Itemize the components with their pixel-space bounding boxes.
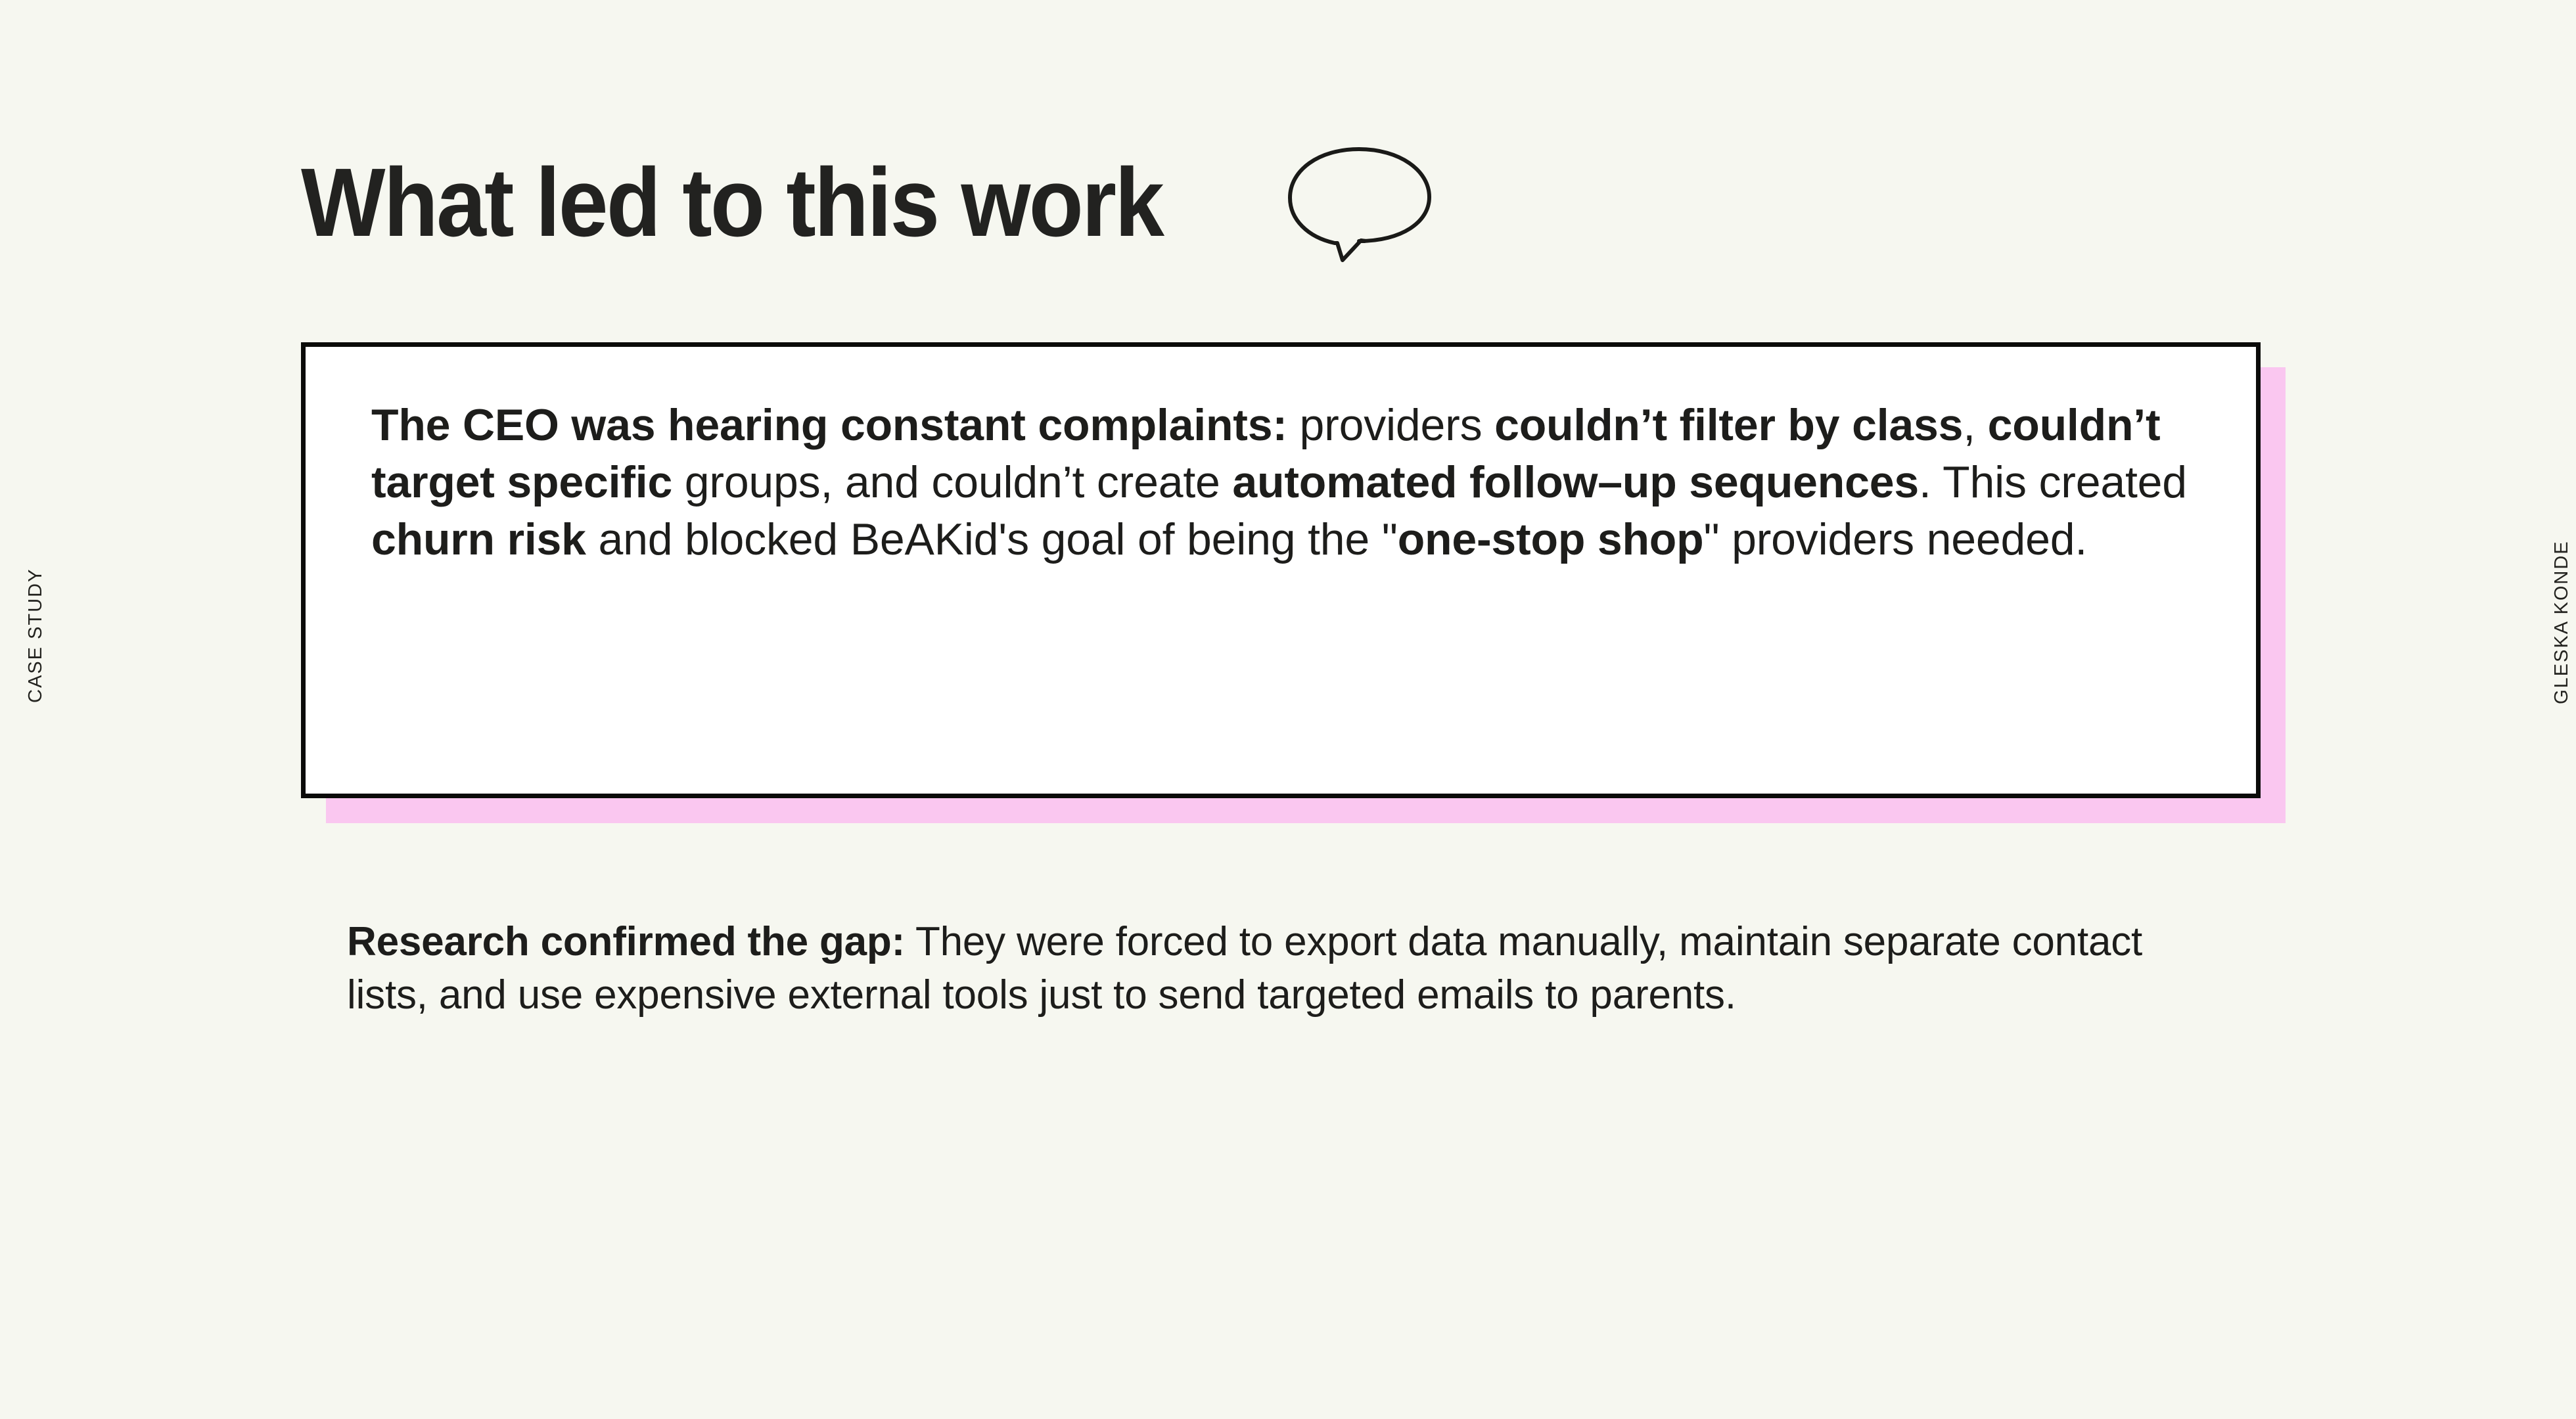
quote-card-text: The CEO was hearing constant complaints:… [371,397,2203,568]
quote-plain: providers [1300,400,1495,450]
quote-plain: groups, and couldn’t create [672,457,1232,507]
quote-plain: and blocked BeAKid's goal of being the " [586,514,1398,564]
rail-label-brand: GLESKA KONDE [2551,540,2573,704]
research-paragraph: Research confirmed the gap: They were fo… [347,916,2207,1022]
quote-card: The CEO was hearing constant complaints:… [301,342,2261,798]
quote-plain: " providers needed. [1703,514,2087,564]
slide-canvas: CASE STUDY GLESKA KONDE What led to this… [0,0,2576,1419]
quote-emphasis: automated follow–up sequences [1232,457,1919,507]
page-header: What led to this work [301,139,1437,266]
quote-plain: . This created [1919,457,2187,507]
quote-emphasis: one-stop shop [1398,514,1704,564]
page-title: What led to this work [301,154,1162,252]
research-label: Research confirmed the gap: [347,919,905,964]
rail-label-case-study: CASE STUDY [25,568,47,703]
quote-plain: , [1963,400,1987,450]
quote-lead-in: The CEO was hearing constant complaints: [371,400,1287,450]
speech-bubble-icon [1279,145,1437,266]
quote-emphasis: churn risk [371,514,586,564]
card-surface: The CEO was hearing constant complaints:… [301,342,2261,798]
quote-emphasis: couldn’t filter by class [1494,400,1963,450]
